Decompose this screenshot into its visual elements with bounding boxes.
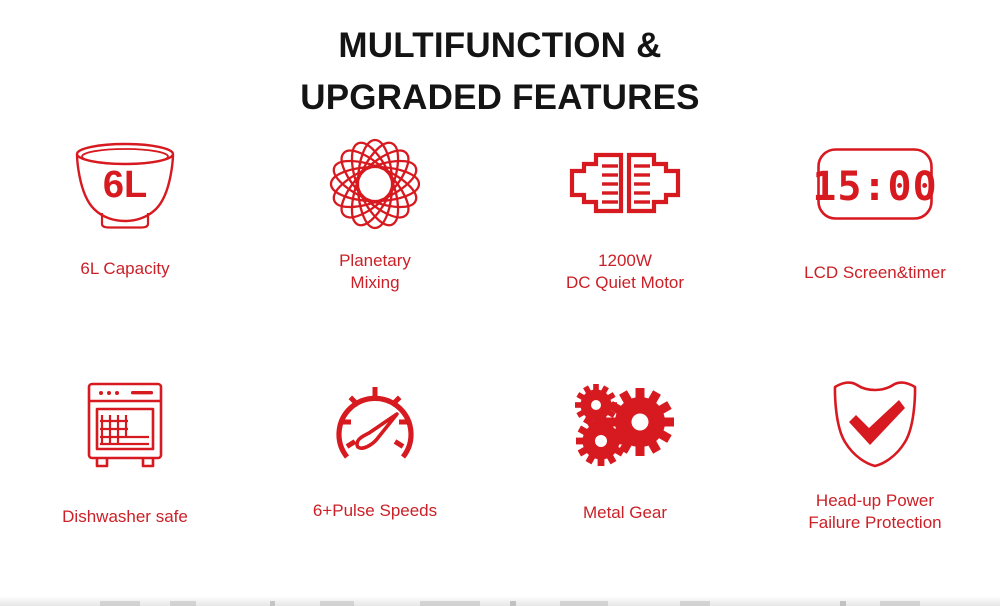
feature-item-motor: 1200W DC Quiet Motor	[500, 132, 750, 322]
page-title-line-2: UPGRADED FEATURES	[0, 72, 1000, 124]
feature-row-2: Dishwasher safe	[0, 372, 1000, 562]
metal-gears-icon	[573, 372, 677, 476]
feature-caption-speeds: 6+Pulse Speeds	[313, 500, 437, 522]
caption-line-1: Head-up Power	[808, 490, 941, 512]
feature-item-dishwasher: Dishwasher safe	[0, 372, 250, 562]
planetary-mixing-icon	[325, 132, 425, 236]
feature-banner: MULTIFUNCTION & UPGRADED FEATURES	[0, 0, 1000, 606]
feature-caption-shield: Head-up Power Failure Protection	[808, 490, 941, 534]
caption-line-2: Failure Protection	[808, 512, 941, 534]
dc-motor-icon	[566, 132, 684, 236]
caption-line-1: 6+Pulse Speeds	[313, 500, 437, 522]
caption-line-1: Metal Gear	[583, 502, 667, 524]
shield-check-icon	[829, 372, 921, 476]
caption-line-1: 6L Capacity	[80, 258, 169, 280]
feature-caption-motor: 1200W DC Quiet Motor	[566, 250, 684, 294]
lcd-timer-icon: 15:00	[816, 132, 934, 236]
feature-row-1: 6L 6L Capacity	[0, 132, 1000, 322]
feature-caption-dishwasher: Dishwasher safe	[62, 506, 188, 528]
mixing-bowl-icon: 6L	[69, 132, 181, 236]
caption-line-1: Dishwasher safe	[62, 506, 188, 528]
caption-line-1: LCD Screen&timer	[804, 262, 946, 284]
feature-caption-lcd: LCD Screen&timer	[804, 262, 946, 284]
feature-item-shield: Head-up Power Failure Protection	[750, 372, 1000, 562]
lcd-time-text: 15:00	[812, 164, 937, 210]
page-title-line-1: MULTIFUNCTION &	[0, 20, 1000, 72]
dishwasher-icon	[83, 372, 167, 480]
caption-line-2: DC Quiet Motor	[566, 272, 684, 294]
caption-line-1: Planetary	[339, 250, 411, 272]
feature-caption-capacity: 6L Capacity	[80, 258, 169, 280]
feature-item-gear: Metal Gear	[500, 372, 750, 562]
feature-item-lcd: 15:00 LCD Screen&timer	[750, 132, 1000, 322]
caption-line-2: Mixing	[339, 272, 411, 294]
page-title: MULTIFUNCTION & UPGRADED FEATURES	[0, 20, 1000, 124]
feature-caption-gear: Metal Gear	[583, 502, 667, 524]
feature-caption-planetary: Planetary Mixing	[339, 250, 411, 294]
caption-line-1: 1200W	[566, 250, 684, 272]
feature-grid: 6L 6L Capacity	[0, 132, 1000, 552]
speedometer-icon	[329, 372, 421, 476]
feature-item-speeds: 6+Pulse Speeds	[250, 372, 500, 562]
feature-item-planetary: Planetary Mixing	[250, 132, 500, 322]
section-divider	[0, 596, 1000, 606]
mixing-bowl-capacity-text: 6L	[103, 164, 147, 206]
feature-item-capacity: 6L 6L Capacity	[0, 132, 250, 322]
